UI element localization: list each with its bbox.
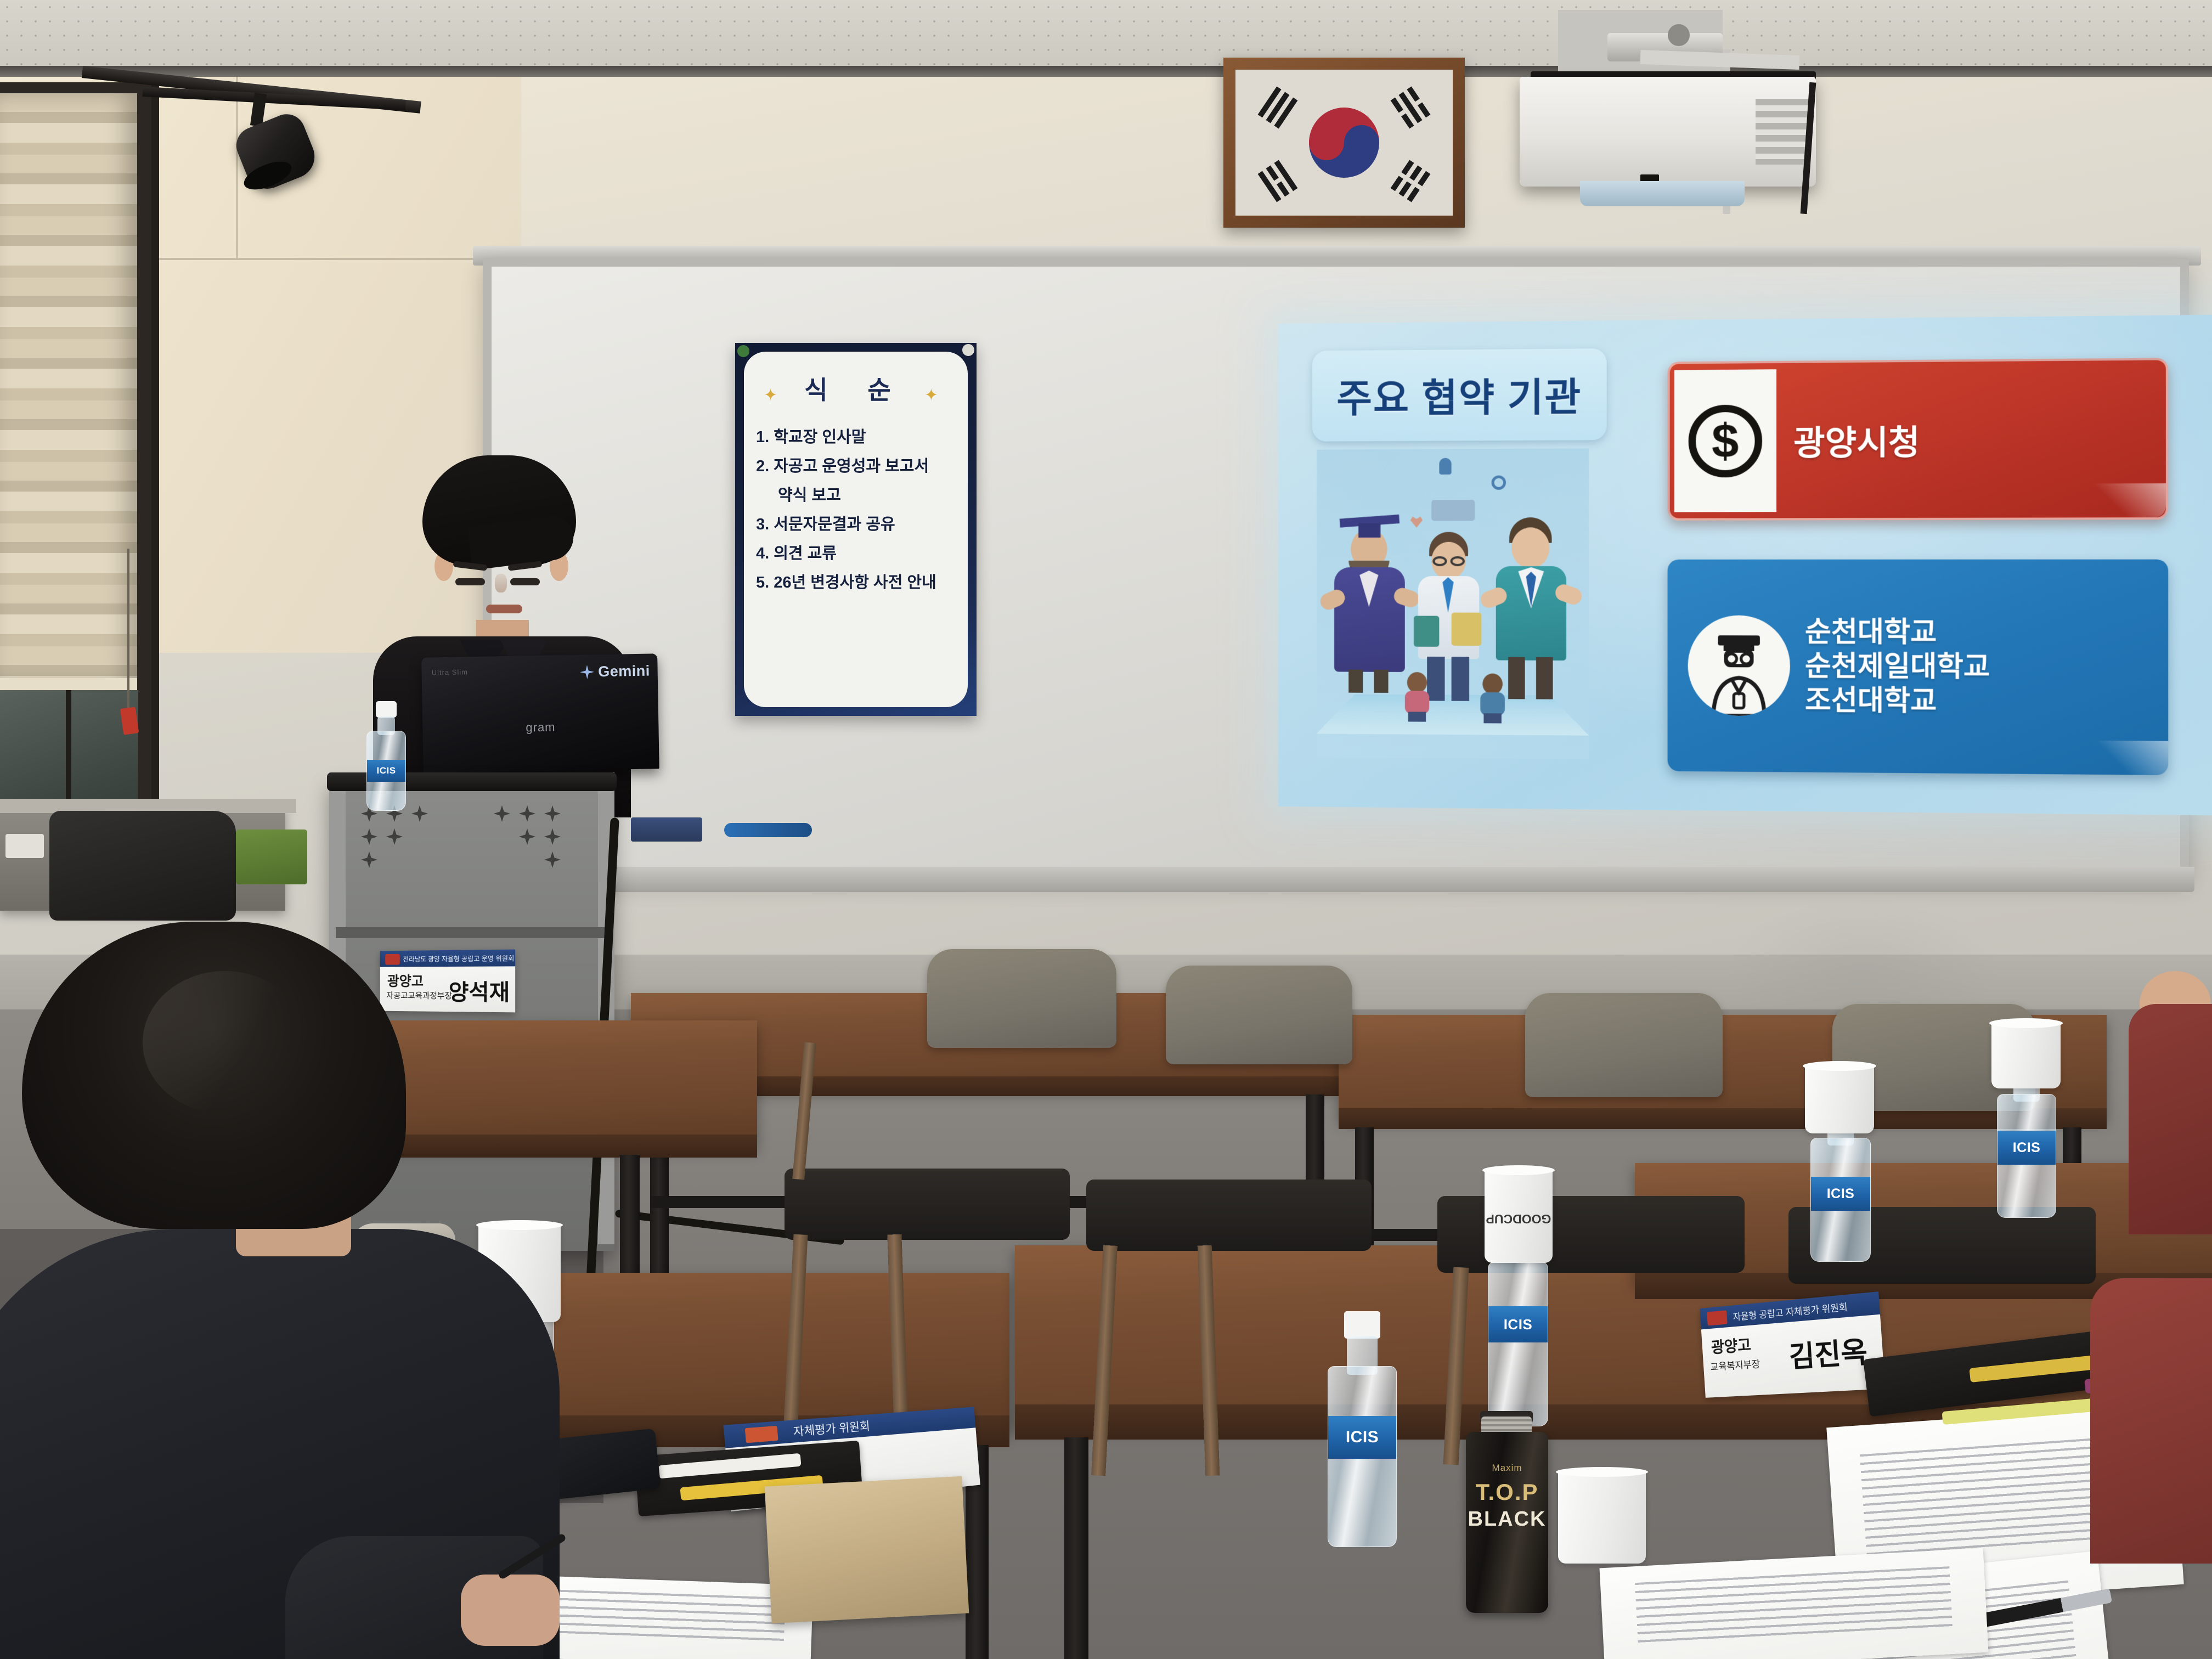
right-person-sleeve bbox=[2090, 1278, 2212, 1564]
water-bottle[interactable]: ICIS bbox=[1328, 1311, 1397, 1547]
chair-seat[interactable] bbox=[1437, 1196, 1745, 1273]
laptop[interactable]: Ultra Slim Gemini gram bbox=[421, 653, 659, 772]
dollar-coin-icon: $ bbox=[1674, 369, 1776, 512]
blind-cord[interactable] bbox=[127, 549, 129, 713]
card-blue-label-2: 순천제일대학교 bbox=[1805, 650, 1990, 684]
paper-cup[interactable] bbox=[1991, 1022, 2061, 1088]
presenter-nose bbox=[495, 574, 507, 592]
agenda-item: 2. 자공고 운영성과 보고서 bbox=[756, 454, 956, 478]
wall-seam-vertical bbox=[236, 77, 238, 258]
attendee-hand bbox=[461, 1575, 560, 1646]
paper-cup[interactable]: GOODCUP bbox=[1485, 1169, 1553, 1263]
agenda-item: 3. 서문자문결과 공유 bbox=[756, 512, 956, 537]
attendee-person bbox=[0, 922, 538, 1659]
school-building-icon bbox=[1431, 500, 1475, 521]
poster-title: 식 순 bbox=[804, 376, 907, 404]
cardboard-box[interactable] bbox=[765, 1476, 969, 1623]
laptop-brand-logo: Gemini bbox=[580, 663, 650, 681]
placard-org-sub: 교육복지부장 bbox=[1710, 1359, 1760, 1373]
trigram-gam bbox=[1391, 86, 1431, 128]
blind-bottom-rail[interactable] bbox=[0, 678, 137, 690]
trigram-geon bbox=[1258, 86, 1298, 128]
laptop-sub-brand: gram bbox=[526, 720, 556, 735]
bag[interactable] bbox=[49, 811, 236, 921]
projected-slide: 주요 협약 기관 bbox=[1278, 315, 2212, 815]
whiteboard-marker[interactable] bbox=[724, 823, 812, 837]
program-poster: ✦ 식 순 ✦ 1. 학교장 인사말 2. 자공고 운영성과 보고서 약식 보고… bbox=[735, 343, 977, 716]
gemini-star-icon bbox=[580, 665, 594, 679]
wall-outlet[interactable] bbox=[5, 834, 44, 858]
slide-title-box: 주요 협약 기관 bbox=[1312, 348, 1607, 442]
whiteboard-marker-tray bbox=[483, 867, 2194, 892]
poster-pin bbox=[962, 344, 974, 356]
korean-flag-frame bbox=[1223, 58, 1465, 228]
trigram-gon bbox=[1391, 160, 1431, 202]
placard-name: 김진옥 bbox=[1787, 1328, 1869, 1375]
placard-org: 광양고 bbox=[1711, 1337, 1752, 1356]
whiteboard-eraser[interactable] bbox=[631, 817, 702, 842]
poster-agenda-list: 1. 학교장 인사말 2. 자공고 운영성과 보고서 약식 보고 3. 서문자문… bbox=[754, 425, 958, 600]
agenda-item: 1. 학교장 인사말 bbox=[756, 425, 956, 449]
chair-back[interactable] bbox=[1525, 993, 1723, 1097]
taeguk-symbol bbox=[1309, 108, 1379, 178]
projector-icon[interactable] bbox=[1520, 77, 1816, 187]
poster-title-row: ✦ 식 순 ✦ bbox=[754, 370, 958, 407]
card-red-label: 광양시청 bbox=[1793, 415, 1920, 465]
water-bottle[interactable]: ICIS bbox=[366, 701, 406, 811]
projector-lens bbox=[1580, 181, 1745, 206]
taegukgi-flag-icon bbox=[1235, 70, 1453, 216]
attendee-hair-highlight bbox=[143, 971, 307, 1114]
slide-title: 주요 협약 기관 bbox=[1336, 366, 1582, 424]
illustration-child-right bbox=[1476, 674, 1509, 724]
agenda-item: 5. 26년 변경사항 사전 안내 bbox=[756, 571, 956, 595]
sparkle-icon: ✦ bbox=[764, 386, 794, 405]
classroom-presentation-scene: ✦ 식 순 ✦ 1. 학교장 인사말 2. 자공고 운영성과 보고서 약식 보고… bbox=[0, 0, 2212, 1659]
chair-seat[interactable] bbox=[785, 1169, 1070, 1240]
illustration-professor bbox=[1328, 510, 1410, 692]
illustration-businessman bbox=[1489, 514, 1573, 697]
water-bottle[interactable]: ICIS bbox=[1488, 1262, 1548, 1426]
chair-back[interactable] bbox=[927, 949, 1116, 1048]
sparkle-icon: ✦ bbox=[924, 386, 955, 405]
illustration-child-left bbox=[1401, 672, 1434, 722]
coffee-can-line2: BLACK bbox=[1466, 1508, 1548, 1531]
paper-cup[interactable] bbox=[1805, 1064, 1874, 1133]
chair-seat[interactable] bbox=[1086, 1180, 1372, 1251]
poster-pin bbox=[737, 345, 749, 357]
chair-back[interactable] bbox=[1166, 966, 1352, 1064]
slide-card-red: $ 광양시청 bbox=[1668, 358, 2169, 521]
agenda-item-sub: 약식 보고 bbox=[756, 483, 956, 507]
right-person-torso bbox=[2129, 1004, 2212, 1234]
projector-side-vents bbox=[1756, 99, 1810, 165]
laptop-lid-small-text: Ultra Slim bbox=[432, 668, 469, 676]
agenda-item: 4. 의견 교류 bbox=[756, 541, 956, 566]
card-blue-labels: 순천대학교 순천제일대학교 조선대학교 bbox=[1805, 615, 1990, 718]
storage-bin[interactable] bbox=[236, 830, 307, 884]
laptop-brand-name: Gemini bbox=[598, 663, 650, 681]
cup-label: GOODCUP bbox=[1485, 1211, 1553, 1226]
projector-arm-bolt bbox=[1668, 24, 1690, 46]
slide-card-blue: 순천대학교 순천제일대학교 조선대학교 bbox=[1668, 560, 2169, 775]
gear-icon bbox=[1492, 476, 1506, 490]
balloon-icon bbox=[1439, 458, 1451, 475]
document-page[interactable] bbox=[1600, 1548, 1989, 1659]
coffee-can-line1: T.O.P bbox=[1466, 1479, 1548, 1505]
card-blue-label-3: 조선대학교 bbox=[1805, 684, 1990, 718]
slide-illustration bbox=[1317, 448, 1589, 759]
paper-cup[interactable] bbox=[1558, 1470, 1646, 1564]
coffee-can-brand: Maxim bbox=[1466, 1463, 1548, 1474]
officer-portrait-icon bbox=[1688, 615, 1790, 716]
coffee-can[interactable]: Maxim T.O.P BLACK bbox=[1466, 1432, 1548, 1613]
placard-right: 자율형 공립고 자체평가 위원회 광양고 교육복지부장 김진옥 bbox=[1700, 1291, 1885, 1398]
trigram-ri bbox=[1258, 160, 1298, 202]
card-blue-label-1: 순천대학교 bbox=[1805, 615, 1990, 648]
presenter-mouth bbox=[486, 605, 522, 613]
window-blind[interactable] bbox=[0, 93, 137, 686]
